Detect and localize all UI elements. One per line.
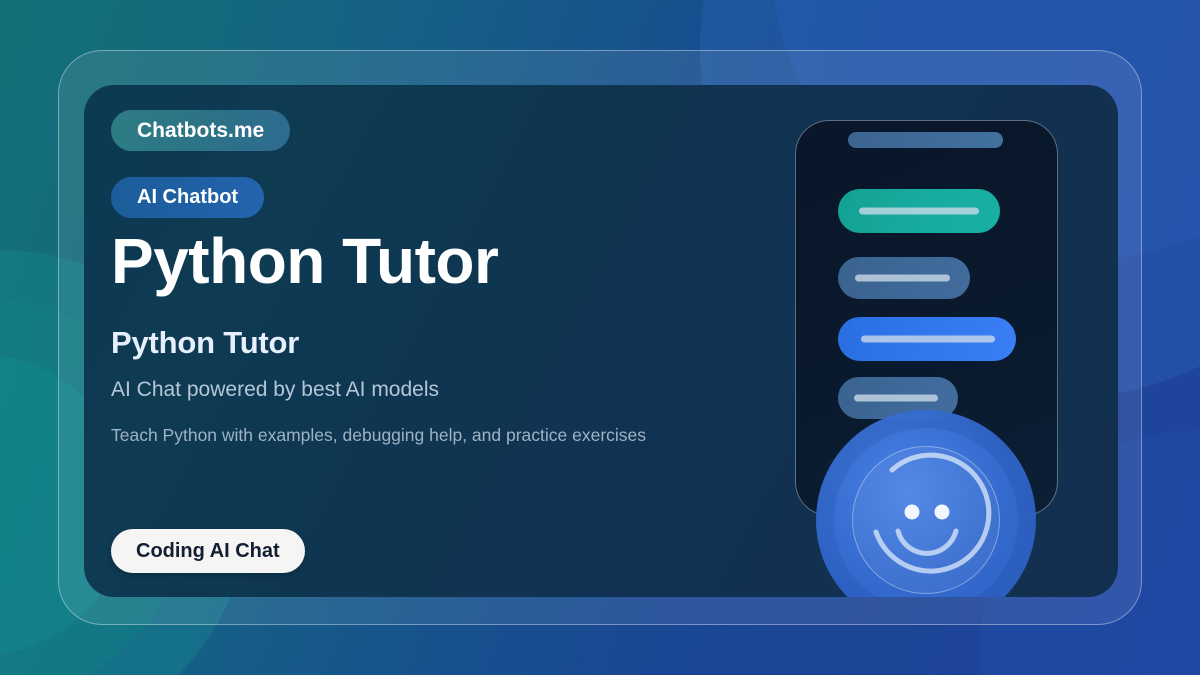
mockup-user-message [838, 257, 970, 299]
tagline-text: AI Chat powered by best AI models [111, 378, 439, 402]
mockup-assistant-message-long [838, 317, 1016, 361]
cta-button[interactable]: Coding AI Chat [111, 529, 305, 573]
smiley-face-icon [852, 446, 1000, 594]
promo-banner: Chatbots.me AI Chatbot Python Tutor Pyth… [0, 0, 1200, 675]
decorative-strip [0, 597, 1200, 598]
hero-content: Chatbots.me AI Chatbot Python Tutor Pyth… [111, 85, 751, 597]
message-text-line [855, 275, 950, 282]
message-text-line [861, 336, 995, 343]
message-text-line [859, 208, 979, 215]
brand-badge[interactable]: Chatbots.me [111, 110, 290, 151]
page-subtitle: Python Tutor [111, 325, 299, 361]
page-title: Python Tutor [111, 226, 498, 298]
mockup-header-bar [848, 132, 1003, 148]
mockup-assistant-message [838, 189, 1000, 233]
avatar [816, 410, 1036, 597]
category-badge[interactable]: AI Chatbot [111, 177, 264, 218]
description-text: Teach Python with examples, debugging he… [111, 425, 771, 446]
hero-card: Chatbots.me AI Chatbot Python Tutor Pyth… [84, 85, 1118, 597]
message-text-line [854, 395, 938, 402]
